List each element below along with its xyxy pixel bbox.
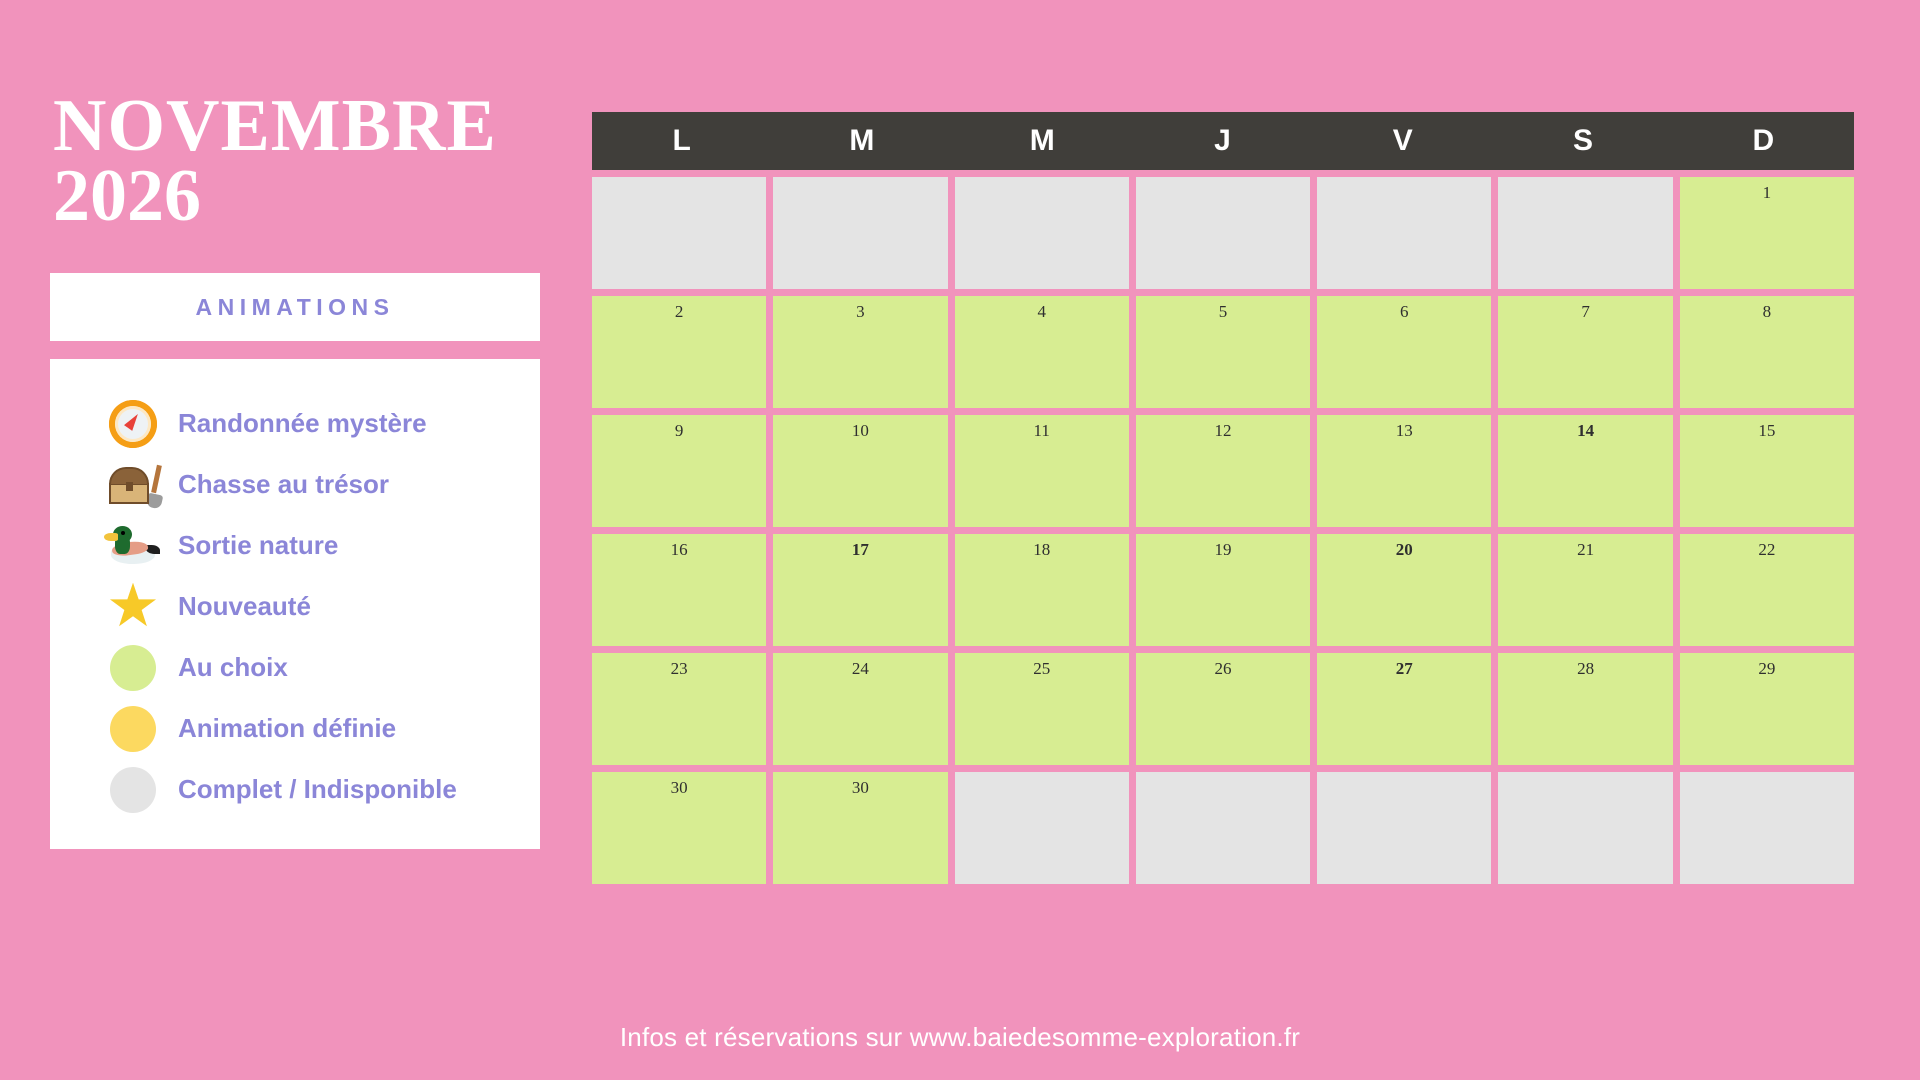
legend-item-sortie-nature: Sortie nature bbox=[50, 515, 540, 576]
day-number: 20 bbox=[1317, 540, 1491, 560]
day-number: 5 bbox=[1136, 302, 1310, 322]
day-number: 25 bbox=[955, 659, 1129, 679]
calendar-day-cell[interactable]: 26 bbox=[1136, 653, 1310, 765]
duck-icon bbox=[102, 526, 164, 566]
calendar-empty-cell bbox=[1317, 772, 1491, 884]
calendar-day-cell[interactable]: 15 bbox=[1680, 415, 1854, 527]
day-number: 18 bbox=[955, 540, 1129, 560]
day-number: 28 bbox=[1498, 659, 1672, 679]
day-number: 24 bbox=[773, 659, 947, 679]
day-number: 17 bbox=[773, 540, 947, 560]
day-number: 6 bbox=[1317, 302, 1491, 322]
calendar-empty-cell bbox=[592, 177, 766, 289]
yellow-circle-swatch bbox=[102, 706, 164, 752]
legend-item-chasse-au-tresor: Chasse au trésor bbox=[50, 454, 540, 515]
calendar-day-cell[interactable]: 30 bbox=[592, 772, 766, 884]
legend-label: Au choix bbox=[178, 652, 288, 683]
day-number: 7 bbox=[1498, 302, 1672, 322]
calendar-day-cell[interactable]: 25 bbox=[955, 653, 1129, 765]
calendar-empty-cell bbox=[1498, 177, 1672, 289]
month-name: NOVEMBRE bbox=[53, 92, 540, 162]
day-number: 14 bbox=[1498, 421, 1672, 441]
calendar-day-cell[interactable]: 19 bbox=[1136, 534, 1310, 646]
legend-label: Nouveauté bbox=[178, 591, 311, 622]
day-number: 8 bbox=[1680, 302, 1854, 322]
legend-panel: Randonnée mystère Chasse au trésor bbox=[50, 359, 540, 849]
page-title: NOVEMBRE 2026 bbox=[53, 92, 540, 231]
calendar-day-cell[interactable]: 18 bbox=[955, 534, 1129, 646]
calendar-empty-cell bbox=[955, 772, 1129, 884]
calendar-grid: 1234567891011121314151617181920212223242… bbox=[592, 170, 1854, 884]
calendar-day-cell[interactable]: 20 bbox=[1317, 534, 1491, 646]
calendar-day-cell[interactable]: 27 bbox=[1317, 653, 1491, 765]
calendar-empty-cell bbox=[1136, 772, 1310, 884]
calendar-empty-cell bbox=[1136, 177, 1310, 289]
weekday-header-0: L bbox=[592, 112, 772, 170]
calendar-day-cell[interactable]: 5 bbox=[1136, 296, 1310, 408]
calendar-empty-cell bbox=[1317, 177, 1491, 289]
weekday-header-3: J bbox=[1133, 112, 1313, 170]
legend-item-au-choix: Au choix bbox=[50, 637, 540, 698]
legend-item-randonnee-mystere: Randonnée mystère bbox=[50, 393, 540, 454]
day-number: 9 bbox=[592, 421, 766, 441]
calendar-day-cell[interactable]: 6 bbox=[1317, 296, 1491, 408]
calendar-day-cell[interactable]: 3 bbox=[773, 296, 947, 408]
day-number: 21 bbox=[1498, 540, 1672, 560]
calendar-day-cell[interactable]: 24 bbox=[773, 653, 947, 765]
legend-label: Sortie nature bbox=[178, 530, 338, 561]
legend-label: Animation définie bbox=[178, 713, 396, 744]
day-number: 15 bbox=[1680, 421, 1854, 441]
animations-label: ANIMATIONS bbox=[196, 294, 395, 321]
calendar-day-cell[interactable]: 28 bbox=[1498, 653, 1672, 765]
calendar-day-cell[interactable]: 17 bbox=[773, 534, 947, 646]
day-number: 30 bbox=[773, 778, 947, 798]
day-number: 23 bbox=[592, 659, 766, 679]
calendar-day-cell[interactable]: 14 bbox=[1498, 415, 1672, 527]
sidebar: NOVEMBRE 2026 ANIMATIONS Randonnée mystè… bbox=[50, 92, 540, 849]
calendar-day-cell[interactable]: 9 bbox=[592, 415, 766, 527]
day-number: 4 bbox=[955, 302, 1129, 322]
day-number: 19 bbox=[1136, 540, 1310, 560]
day-number: 10 bbox=[773, 421, 947, 441]
weekday-header-6: D bbox=[1674, 112, 1854, 170]
weekday-header-5: S bbox=[1493, 112, 1673, 170]
day-number: 29 bbox=[1680, 659, 1854, 679]
calendar-day-cell[interactable]: 7 bbox=[1498, 296, 1672, 408]
footer-info: Infos et réservations sur www.baiedesomm… bbox=[0, 1022, 1920, 1053]
day-number: 13 bbox=[1317, 421, 1491, 441]
day-number: 30 bbox=[592, 778, 766, 798]
calendar-day-cell[interactable]: 22 bbox=[1680, 534, 1854, 646]
day-number: 27 bbox=[1317, 659, 1491, 679]
legend-item-nouveaute: Nouveauté bbox=[50, 576, 540, 637]
star-icon bbox=[102, 583, 164, 631]
legend-label: Complet / Indisponible bbox=[178, 774, 457, 805]
calendar-day-cell[interactable]: 13 bbox=[1317, 415, 1491, 527]
weekday-header-4: V bbox=[1313, 112, 1493, 170]
legend-label: Randonnée mystère bbox=[178, 408, 427, 439]
day-number: 22 bbox=[1680, 540, 1854, 560]
calendar-empty-cell bbox=[1680, 772, 1854, 884]
calendar-day-cell[interactable]: 21 bbox=[1498, 534, 1672, 646]
treasure-chest-icon bbox=[102, 463, 164, 507]
calendar-day-cell[interactable]: 8 bbox=[1680, 296, 1854, 408]
day-number: 26 bbox=[1136, 659, 1310, 679]
calendar-day-cell[interactable]: 16 bbox=[592, 534, 766, 646]
year-label: 2026 bbox=[53, 162, 540, 232]
calendar-day-cell[interactable]: 29 bbox=[1680, 653, 1854, 765]
legend-label: Chasse au trésor bbox=[178, 469, 389, 500]
legend-item-complet-indisponible: Complet / Indisponible bbox=[50, 759, 540, 820]
legend-item-animation-definie: Animation définie bbox=[50, 698, 540, 759]
calendar-weekday-header: LMMJVSD bbox=[592, 112, 1854, 170]
calendar-day-cell[interactable]: 1 bbox=[1680, 177, 1854, 289]
day-number: 12 bbox=[1136, 421, 1310, 441]
calendar-empty-cell bbox=[773, 177, 947, 289]
gray-circle-swatch bbox=[102, 767, 164, 813]
compass-icon bbox=[102, 400, 164, 448]
day-number: 2 bbox=[592, 302, 766, 322]
calendar: LMMJVSD 12345678910111213141516171819202… bbox=[592, 112, 1854, 884]
calendar-day-cell[interactable]: 30 bbox=[773, 772, 947, 884]
calendar-day-cell[interactable]: 10 bbox=[773, 415, 947, 527]
calendar-day-cell[interactable]: 4 bbox=[955, 296, 1129, 408]
weekday-header-2: M bbox=[953, 112, 1133, 170]
calendar-day-cell[interactable]: 11 bbox=[955, 415, 1129, 527]
calendar-empty-cell bbox=[1498, 772, 1672, 884]
day-number: 1 bbox=[1680, 183, 1854, 203]
day-number: 16 bbox=[592, 540, 766, 560]
day-number: 11 bbox=[955, 421, 1129, 441]
calendar-day-cell[interactable]: 23 bbox=[592, 653, 766, 765]
animations-header-box: ANIMATIONS bbox=[50, 273, 540, 341]
calendar-day-cell[interactable]: 12 bbox=[1136, 415, 1310, 527]
day-number: 3 bbox=[773, 302, 947, 322]
calendar-empty-cell bbox=[955, 177, 1129, 289]
calendar-poster: NOVEMBRE 2026 ANIMATIONS Randonnée mystè… bbox=[0, 0, 1920, 1080]
weekday-header-1: M bbox=[772, 112, 952, 170]
green-circle-swatch bbox=[102, 645, 164, 691]
calendar-day-cell[interactable]: 2 bbox=[592, 296, 766, 408]
